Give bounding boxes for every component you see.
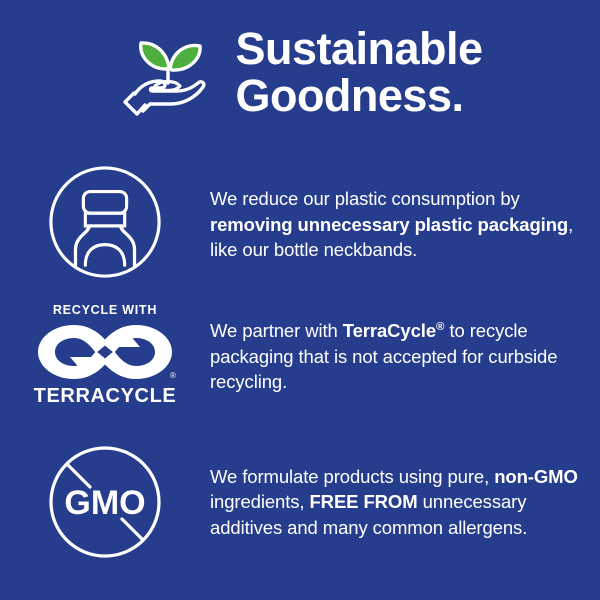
text-part: We formulate products using pure,	[210, 466, 494, 487]
bottle-neckband-circle-icon	[46, 163, 164, 286]
terracycle-logo: RECYCLE WITH ®	[30, 303, 180, 407]
icon-cell	[0, 163, 210, 286]
text-part: We reduce our plastic consumption by	[210, 188, 520, 209]
text-part-bold: removing unnecessary plastic packaging	[210, 214, 568, 235]
sustainable-goodness-panel: Sustainable Goodness. We reduce our pl	[0, 0, 600, 600]
feature-text-terracycle: We partner with TerraCycle® to recycle p…	[210, 315, 600, 395]
feature-row-terracycle: RECYCLE WITH ®	[0, 303, 600, 407]
icon-cell: RECYCLE WITH ®	[0, 303, 210, 407]
infinity-arrows-icon: ®	[34, 321, 176, 383]
no-gmo-icon: GMO	[46, 443, 164, 561]
header: Sustainable Goodness.	[0, 22, 600, 126]
registered-mark: ®	[170, 371, 176, 380]
page-title: Sustainable Goodness.	[235, 25, 482, 123]
feature-row-non-gmo: GMO We formulate products using pure, no…	[0, 443, 600, 561]
text-part-bold: TerraCycle	[343, 320, 436, 341]
icon-cell: GMO	[0, 443, 210, 561]
terracycle-bottom-label: TERRACYCLE	[34, 385, 177, 407]
text-part: ingredients,	[210, 491, 309, 512]
text-part-bold: non-GMO	[494, 466, 578, 487]
hand-holding-sprout-icon	[117, 22, 221, 126]
feature-text-non-gmo: We formulate products using pure, non-GM…	[210, 464, 600, 541]
gmo-label: GMO	[64, 484, 145, 522]
text-part: We partner with	[210, 320, 343, 341]
terracycle-top-label: RECYCLE WITH	[53, 303, 157, 318]
text-part-bold: FREE FROM	[309, 491, 417, 512]
feature-row-plastic-reduction: We reduce our plastic consumption by rem…	[0, 163, 600, 286]
feature-text-plastic-reduction: We reduce our plastic consumption by rem…	[210, 186, 600, 263]
